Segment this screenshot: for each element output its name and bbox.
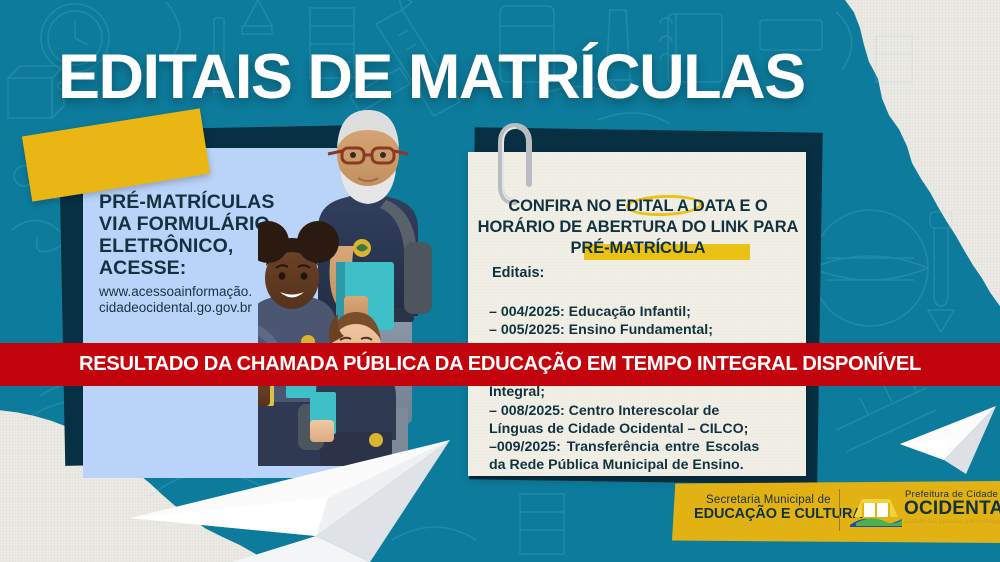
footer-divider <box>839 489 840 531</box>
secretaria-line-2: EDUCAÇÃO E CULTURA <box>694 506 863 522</box>
edital-item-009b: da Rede Pública Municipal de Ensino. <box>489 456 799 474</box>
edital-item-009a: –009/2025: Transferência entre Escolas <box>489 438 799 456</box>
status-banner: RESULTADO DA CHAMADA PÚBLICA DA EDUCAÇÃO… <box>0 343 1000 386</box>
prefeitura-tagline: Cidade das pessoas quem chega <box>905 519 1000 525</box>
secretaria-line-1: Secretaria Municipal de <box>706 494 831 506</box>
poster-canvas: EDITAIS DE MATRÍCULAS PRÉ-MATRÍCULAS VIA… <box>0 0 1000 562</box>
paper-airplane-illustration <box>120 386 520 562</box>
prefeitura-line-2: OCIDENTAL <box>904 498 1000 520</box>
status-banner-text: RESULTADO DA CHAMADA PÚBLICA DA EDUCAÇÃO… <box>79 353 921 376</box>
paper-airplane-small-illustration <box>900 404 1000 474</box>
edital-item-integral: Integral; <box>489 383 799 401</box>
note-heading: CONFIRA NO EDITAL A DATA E O HORÁRIO DE … <box>476 196 800 259</box>
edital-item-008a: – 008/2025: Centro Interescolar de <box>489 402 799 420</box>
editais-label: Editais: <box>492 265 544 281</box>
prefeitura-emblem-icon <box>850 487 902 531</box>
edital-item-005: – 005/2025: Ensino Fundamental; <box>489 321 799 339</box>
edital-item-008b: Línguas de Cidade Ocidental – CILCO; <box>489 420 799 438</box>
edital-item-004: – 004/2025: Educação Infantil; <box>489 303 799 321</box>
